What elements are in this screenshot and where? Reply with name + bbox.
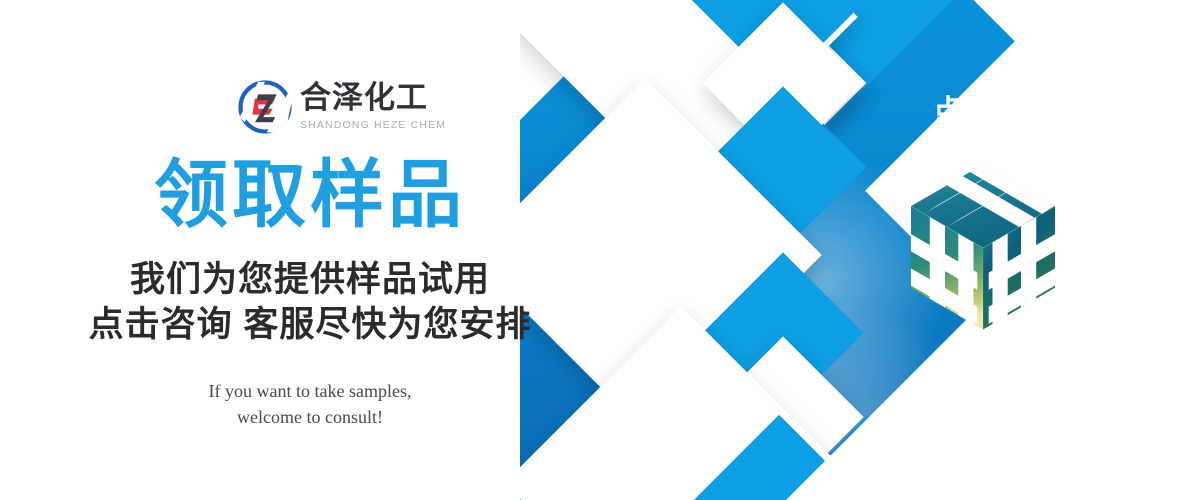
content-column: 合泽化工 SHANDONG HEZE CHEM 领取样品 我们为您提供样品试用 … <box>0 0 620 500</box>
brand-logo: 合泽化工 SHANDONG HEZE CHEM <box>238 80 446 134</box>
accent-diamond-top-mid <box>699 0 869 1</box>
page-title: 领取样品 <box>0 158 620 232</box>
isometric-hash-cube-icon[interactable] <box>888 151 1078 341</box>
brand-name-en: SHANDONG HEZE CHEM <box>300 118 446 133</box>
english-line-1: If you want to take samples, <box>0 378 620 404</box>
brand-wordmark: 合泽化工 SHANDONG HEZE CHEM <box>300 82 446 133</box>
english-caption: If you want to take samples, welcome to … <box>0 378 620 430</box>
subheading: 我们为您提供样品试用 点击咨询 客服尽快为您安排 <box>0 258 620 348</box>
accent-diamond-top-overlay <box>659 0 899 87</box>
cta-block[interactable]: 点 我 <box>838 96 1128 341</box>
accent-diamond-bottom-right <box>783 415 953 500</box>
english-line-2: welcome to consult! <box>0 404 620 430</box>
accent-diamond-bottom-overlay <box>659 415 899 500</box>
subheading-line-2: 点击咨询 客服尽快为您安排 <box>0 303 620 348</box>
cta-cube[interactable] <box>838 151 1128 341</box>
accent-diamond-top-left <box>615 0 785 85</box>
accent-diamond-top-right <box>783 0 953 85</box>
accent-diamond-lower-2 <box>659 413 899 500</box>
brand-name-cn: 合泽化工 <box>300 82 446 115</box>
promo-banner: 合泽化工 SHANDONG HEZE CHEM 领取样品 我们为您提供样品试用 … <box>0 0 1200 500</box>
hz-monogram-circle-icon <box>238 80 292 134</box>
cta-label[interactable]: 点 我 <box>838 96 1128 127</box>
white-diamond-lower <box>702 336 863 497</box>
accent-diamond-bottom-left <box>615 415 785 500</box>
subheading-line-1: 我们为您提供样品试用 <box>0 258 620 303</box>
